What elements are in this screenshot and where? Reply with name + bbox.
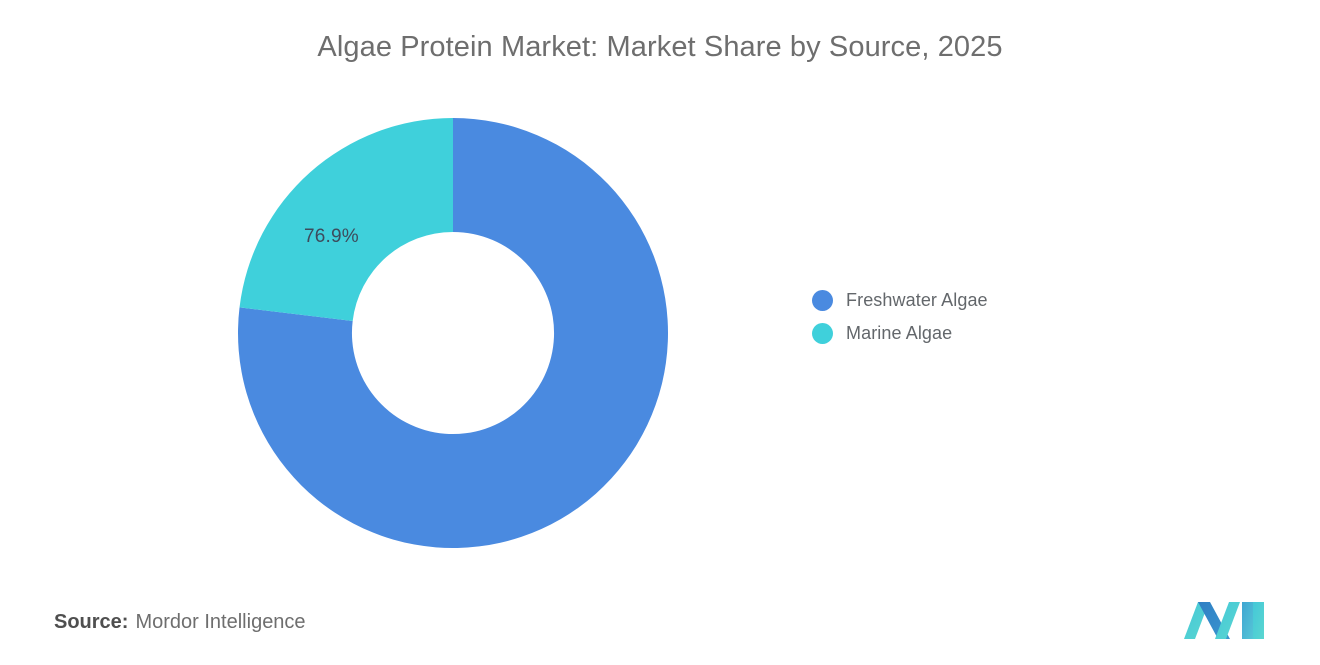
logo-svg — [1182, 596, 1266, 642]
page-title: Algae Protein Market: Market Share by So… — [0, 28, 1320, 66]
legend-item-marine-algae[interactable]: Marine Algae — [812, 317, 1112, 350]
legend-swatch-icon — [812, 290, 833, 311]
mordor-intelligence-logo-icon — [1182, 596, 1266, 642]
legend-label: Freshwater Algae — [846, 290, 988, 311]
source-attribution: Source:Mordor Intelligence — [54, 611, 306, 634]
donut-slices — [238, 118, 668, 548]
source-label: Source: — [54, 611, 128, 633]
legend-swatch-icon — [812, 323, 833, 344]
slice-data-label-freshwater-algae: 76.9% — [304, 226, 359, 248]
donut-slice[interactable] — [240, 118, 453, 321]
chart-legend: Freshwater Algae Marine Algae — [812, 284, 1112, 350]
source-value: Mordor Intelligence — [135, 611, 305, 633]
legend-label: Marine Algae — [846, 323, 952, 344]
donut-chart-svg — [238, 118, 668, 548]
donut-chart: 76.9% — [238, 118, 668, 548]
legend-item-freshwater-algae[interactable]: Freshwater Algae — [812, 284, 1112, 317]
chart-page: Algae Protein Market: Market Share by So… — [0, 0, 1320, 665]
